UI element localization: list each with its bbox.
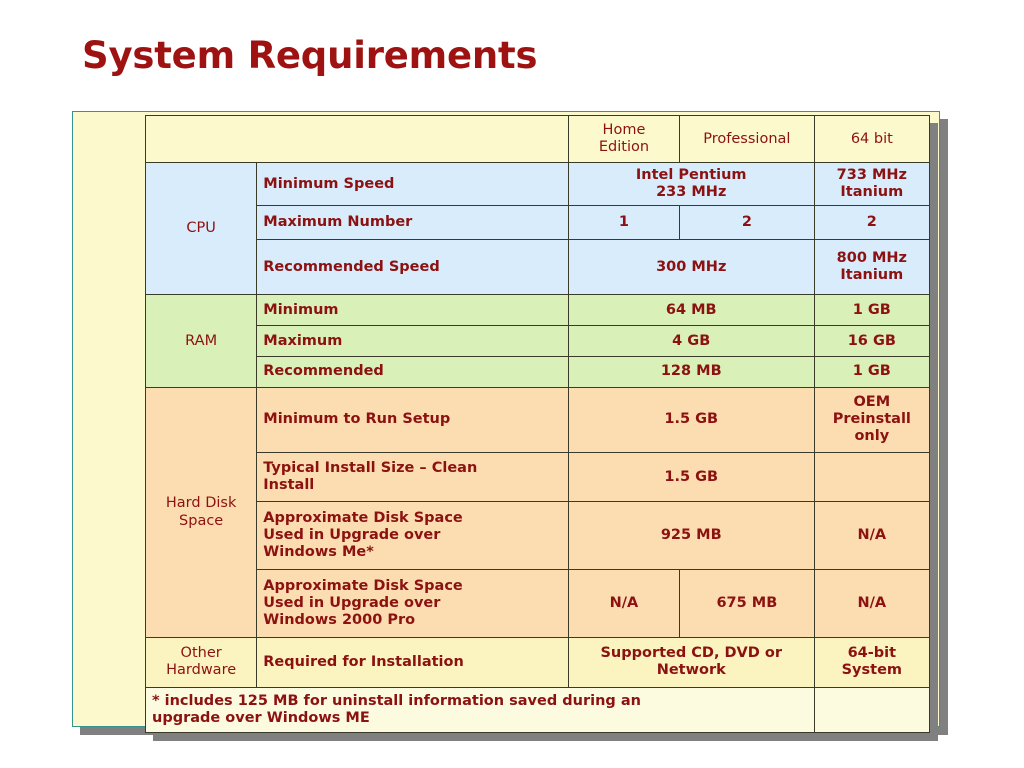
cell-line2: Itanium <box>821 267 923 284</box>
cell-hdd-typical-install-64bit <box>814 452 929 501</box>
row-label-line1: Typical Install Size – Clean <box>263 460 562 477</box>
section-label-hard-disk-space: Hard Disk Space <box>146 387 257 637</box>
cell-cpu-max-number-home: 1 <box>568 205 679 239</box>
section-label-ram: RAM <box>146 295 257 388</box>
table-header-row: Home Edition Professional 64 bit <box>146 116 930 163</box>
table-row: Recommended 128 MB 1 GB <box>146 357 930 388</box>
table-row: Recommended Speed 300 MHz 800 MHz Itaniu… <box>146 239 930 295</box>
row-label-upgrade-over-windows-2000-pro: Approximate Disk Space Used in Upgrade o… <box>257 570 569 638</box>
column-header-professional: Professional <box>680 116 815 163</box>
footnote-line1: * includes 125 MB for uninstall informat… <box>152 693 808 710</box>
row-label-minimum-speed: Minimum Speed <box>257 163 569 205</box>
cell-cpu-max-number-pro: 2 <box>680 205 815 239</box>
row-label-upgrade-over-windows-me: Approximate Disk Space Used in Upgrade o… <box>257 502 569 570</box>
section-label-other-hardware: Other Hardware <box>146 638 257 687</box>
cell-cpu-max-number-64bit: 2 <box>814 205 929 239</box>
table-row: Approximate Disk Space Used in Upgrade o… <box>146 570 930 638</box>
cell-ram-maximum-64bit: 16 GB <box>814 326 929 357</box>
row-label-typical-install-size: Typical Install Size – Clean Install <box>257 452 569 501</box>
cell-line1: 800 MHz <box>821 250 923 267</box>
column-header-home-edition-line1: Home <box>575 122 673 139</box>
row-label-line3: Windows 2000 Pro <box>263 612 562 629</box>
table-row: Other Hardware Required for Installation… <box>146 638 930 687</box>
footnote-text: * includes 125 MB for uninstall informat… <box>146 687 815 732</box>
table-footnote-row: * includes 125 MB for uninstall informat… <box>146 687 930 732</box>
footnote-trailing-cell <box>814 687 929 732</box>
slide-canvas: System Requirements Home Edition <box>0 0 1024 768</box>
cell-line2: Preinstall <box>821 411 923 428</box>
table-row: RAM Minimum 64 MB 1 GB <box>146 295 930 326</box>
row-label-maximum-number: Maximum Number <box>257 205 569 239</box>
cell-other-required-home-pro: Supported CD, DVD or Network <box>568 638 814 687</box>
cell-cpu-recommended-speed-64bit: 800 MHz Itanium <box>814 239 929 295</box>
cell-line2: System <box>821 662 923 679</box>
cell-line3: only <box>821 428 923 445</box>
table-row: CPU Minimum Speed Intel Pentium 233 MHz … <box>146 163 930 205</box>
cell-line1: Intel Pentium <box>575 167 808 184</box>
row-label-line1: Approximate Disk Space <box>263 510 562 527</box>
row-label-line2: Used in Upgrade over <box>263 527 562 544</box>
cell-line1: 64-bit <box>821 645 923 662</box>
column-header-home-edition: Home Edition <box>568 116 679 163</box>
cell-line2: Network <box>575 662 808 679</box>
row-label-line2: Used in Upgrade over <box>263 595 562 612</box>
header-spacer-cell <box>146 116 569 163</box>
cell-cpu-recommended-speed-home-pro: 300 MHz <box>568 239 814 295</box>
cell-hdd-min-setup-64bit: OEM Preinstall only <box>814 387 929 452</box>
row-label-line1: Approximate Disk Space <box>263 578 562 595</box>
column-header-64-bit: 64 bit <box>814 116 929 163</box>
system-requirements-table-wrapper: Home Edition Professional 64 bit CPU Min… <box>145 115 930 733</box>
cell-line2: Itanium <box>821 184 923 201</box>
cell-line2: 233 MHz <box>575 184 808 201</box>
page-title: System Requirements <box>82 34 537 77</box>
table-row: Maximum Number 1 2 2 <box>146 205 930 239</box>
cell-other-required-64bit: 64-bit System <box>814 638 929 687</box>
row-label-recommended-speed: Recommended Speed <box>257 239 569 295</box>
cell-ram-minimum-home-pro: 64 MB <box>568 295 814 326</box>
cell-cpu-minimum-speed-64bit: 733 MHz Itanium <box>814 163 929 205</box>
cell-hdd-upgrade-me-64bit: N/A <box>814 502 929 570</box>
cell-hdd-upgrade-2000-pro: 675 MB <box>680 570 815 638</box>
cell-line1: 733 MHz <box>821 167 923 184</box>
section-label-cpu: CPU <box>146 163 257 295</box>
section-label-line1: Hard Disk <box>152 495 250 512</box>
section-label-line2: Hardware <box>152 662 250 679</box>
cell-ram-recommended-64bit: 1 GB <box>814 357 929 388</box>
row-label-required-for-installation: Required for Installation <box>257 638 569 687</box>
row-label-ram-minimum: Minimum <box>257 295 569 326</box>
table-row: Approximate Disk Space Used in Upgrade o… <box>146 502 930 570</box>
cell-cpu-minimum-speed-home-pro: Intel Pentium 233 MHz <box>568 163 814 205</box>
row-label-ram-maximum: Maximum <box>257 326 569 357</box>
row-label-line3: Windows Me* <box>263 544 562 561</box>
system-requirements-table: Home Edition Professional 64 bit CPU Min… <box>145 115 930 733</box>
cell-hdd-upgrade-me-home-pro: 925 MB <box>568 502 814 570</box>
table-row: Hard Disk Space Minimum to Run Setup 1.5… <box>146 387 930 452</box>
row-label-ram-recommended: Recommended <box>257 357 569 388</box>
cell-line1: Supported CD, DVD or <box>575 645 808 662</box>
cell-hdd-upgrade-2000-64bit: N/A <box>814 570 929 638</box>
footnote-line2: upgrade over Windows ME <box>152 710 808 727</box>
column-header-home-edition-line2: Edition <box>575 139 673 156</box>
row-label-line2: Install <box>263 477 562 494</box>
cell-line1: OEM <box>821 394 923 411</box>
row-label-minimum-to-run-setup: Minimum to Run Setup <box>257 387 569 452</box>
section-label-line2: Space <box>152 513 250 530</box>
cell-hdd-upgrade-2000-home: N/A <box>568 570 679 638</box>
table-row: Typical Install Size – Clean Install 1.5… <box>146 452 930 501</box>
table-row: Maximum 4 GB 16 GB <box>146 326 930 357</box>
section-label-line1: Other <box>152 645 250 662</box>
cell-ram-maximum-home-pro: 4 GB <box>568 326 814 357</box>
cell-hdd-typical-install-home-pro: 1.5 GB <box>568 452 814 501</box>
cell-ram-minimum-64bit: 1 GB <box>814 295 929 326</box>
cell-ram-recommended-home-pro: 128 MB <box>568 357 814 388</box>
cell-hdd-min-setup-home-pro: 1.5 GB <box>568 387 814 452</box>
